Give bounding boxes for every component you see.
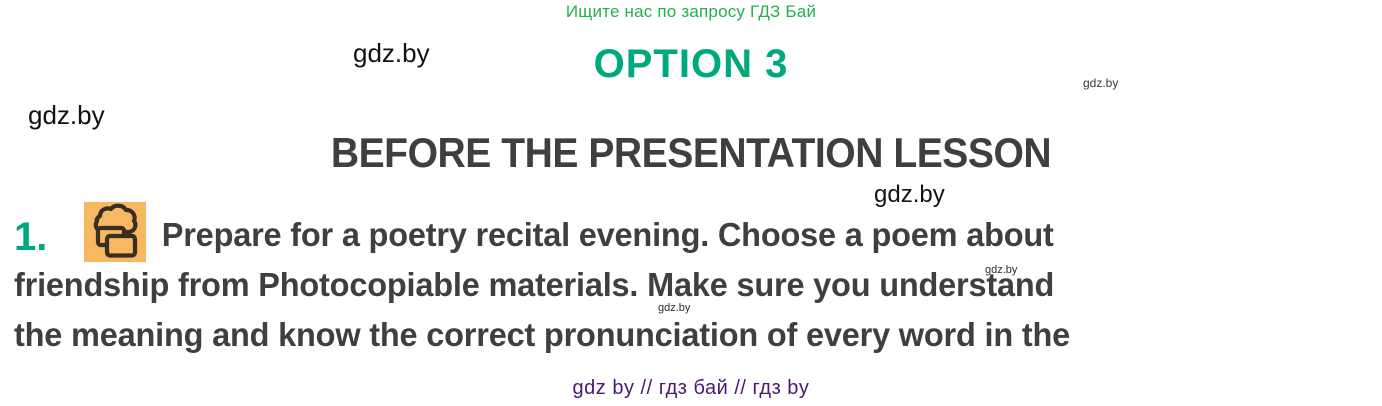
textbook-page-scan: Ищите нас по запросу ГДЗ Бай OPTION 3 BE… [0, 0, 1382, 406]
task-block: 1. Prepare for a poetry recital evening.… [14, 210, 1372, 360]
watermark-gdz-by: gdz.by [1083, 76, 1118, 90]
footer-watermark: gdz by // гдз бай // гдз by [0, 377, 1382, 400]
watermark-gdz-by: gdz.by [28, 100, 105, 131]
task-instruction-line-1: Prepare for a poetry recital evening. Ch… [14, 210, 1352, 260]
watermark-gdz-by: gdz.by [985, 264, 1017, 276]
watermark-gdz-by: gdz.by [353, 38, 430, 69]
section-heading: BEFORE THE PRESENTATION LESSON [48, 129, 1333, 177]
watermark-gdz-by: gdz.by [658, 302, 690, 314]
task-instruction-text: Prepare for a poetry recital evening. Ch… [14, 210, 1352, 360]
option-heading: OPTION 3 [0, 42, 1382, 87]
task-instruction-line-3: the meaning and know the correct pronunc… [14, 310, 1352, 360]
promo-banner-text: Ищите нас по запросу ГДЗ Бай [0, 2, 1382, 22]
watermark-gdz-by: gdz.by [874, 181, 945, 209]
